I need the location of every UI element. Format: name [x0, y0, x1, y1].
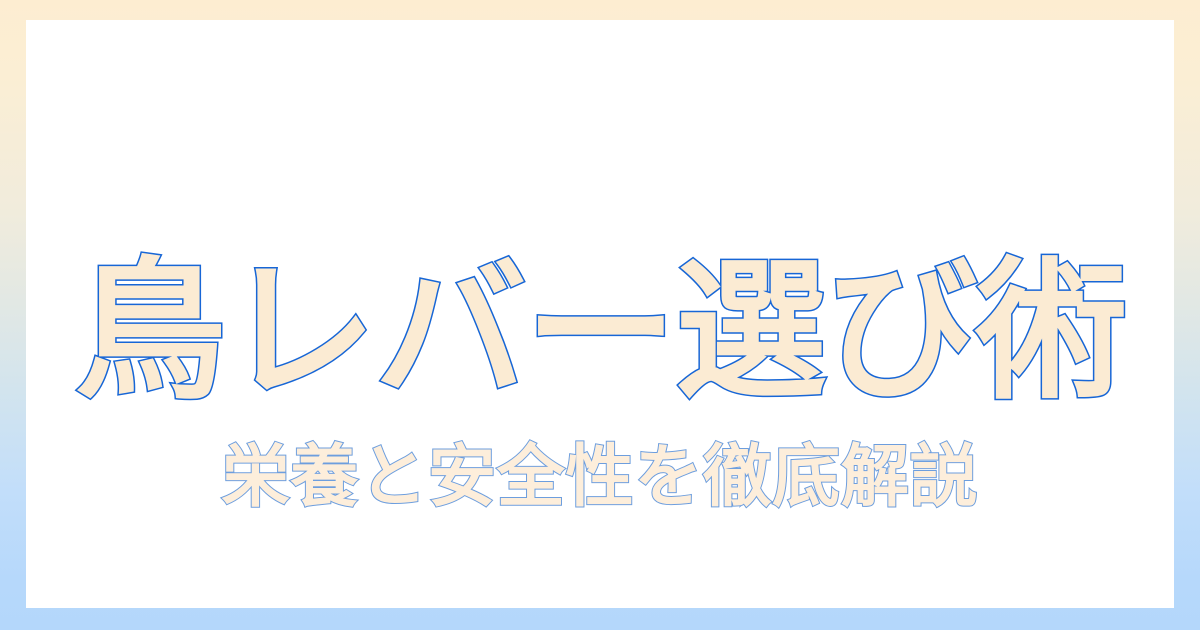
canvas-inner: 鳥レバー選び術 栄養と安全性を徹底解説 — [26, 20, 1174, 608]
page-subtitle: 栄養と安全性を徹底解説 — [26, 441, 1174, 516]
eyecatch-card: 鳥レバー選び術 栄養と安全性を徹底解説 — [0, 0, 1200, 630]
page-title: 鳥レバー選び術 — [26, 250, 1174, 414]
